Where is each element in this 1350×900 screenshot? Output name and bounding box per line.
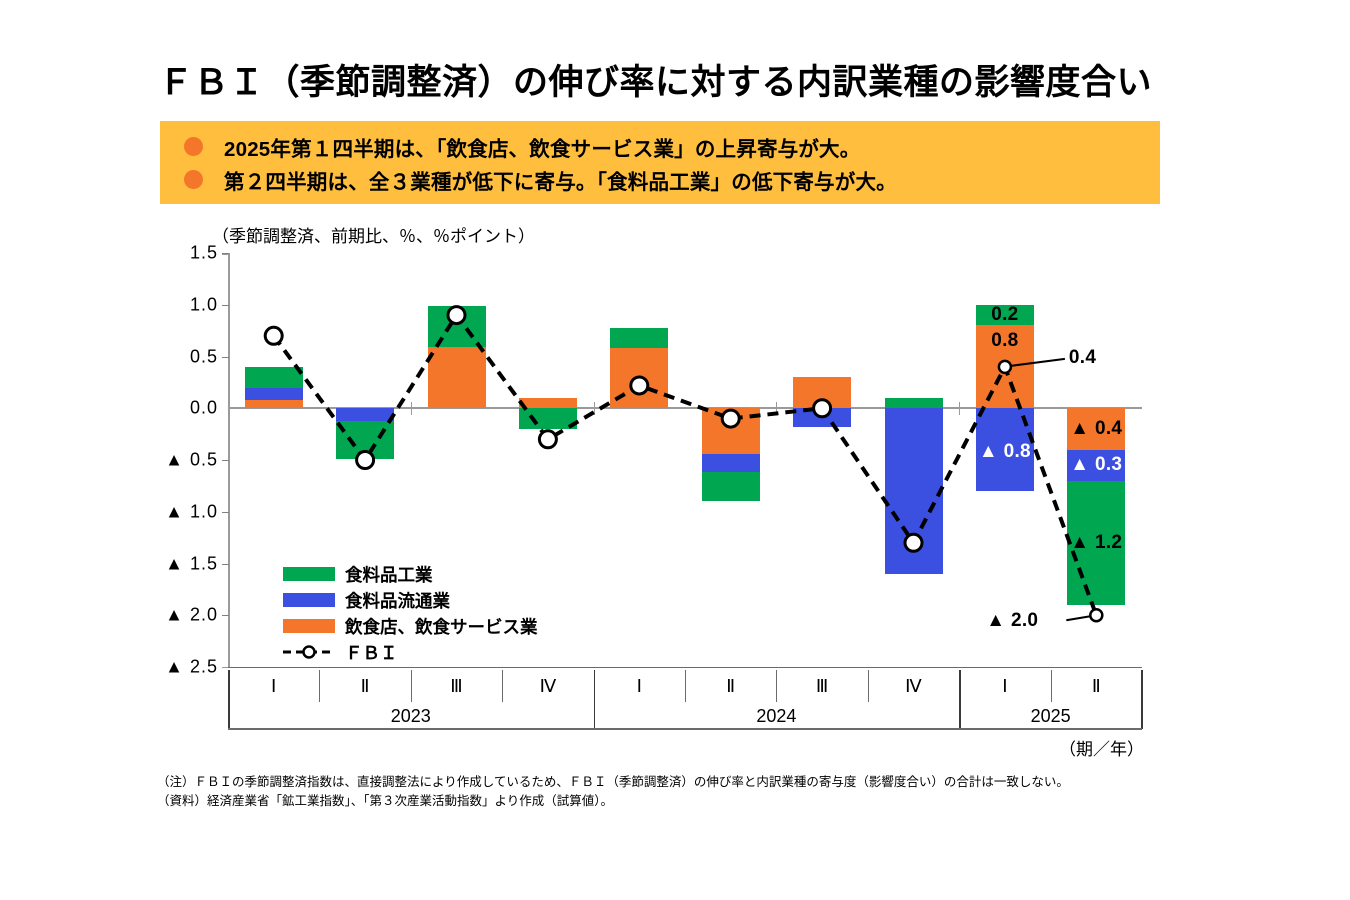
x-axis-quarter-label: Ⅰ <box>228 668 319 704</box>
x-axis-quarter-divider <box>411 670 412 702</box>
y-tick-mark <box>222 305 229 306</box>
bar-value-label: ▲ 0.4 <box>1070 418 1122 440</box>
legend-label: 飲食店、飲食サービス業 <box>345 614 538 639</box>
bar-segment <box>610 348 668 408</box>
axis-unit-note: （季節調整済、前期比、％、％ポイント） <box>212 222 535 247</box>
y-tick-label: ▲ 0.5 <box>138 450 218 471</box>
bar-segment <box>702 472 760 501</box>
legend-label: 食料品工業 <box>345 562 433 587</box>
legend-color-swatch <box>283 619 335 633</box>
x-axis-quarter-label: Ⅰ <box>959 668 1050 704</box>
x-axis: ⅠⅡⅢⅣ2023ⅠⅡⅢⅣ2024ⅠⅡ2025 <box>228 667 1142 729</box>
y-tick-mark <box>222 357 229 358</box>
x-axis-year-divider <box>594 670 596 729</box>
bar-segment <box>610 328 668 349</box>
bar-value-label: 0.2 <box>991 304 1018 326</box>
bar-segment <box>702 408 760 454</box>
legend-item: 食料品流通業 <box>283 588 538 612</box>
bar-segment <box>793 377 851 408</box>
bar-segment <box>793 408 851 427</box>
x-axis-year-label: 2023 <box>228 704 594 729</box>
chart-legend: 食料品工業食料品流通業飲食店、飲食サービス業ＦＢＩ <box>283 562 538 666</box>
y-tick-label: ▲ 2.5 <box>138 657 218 678</box>
y-tick-mark <box>222 460 229 461</box>
y-tick-label: 0.0 <box>138 398 218 419</box>
x-minor-tick <box>411 402 412 415</box>
legend-line-marker-icon <box>283 645 335 659</box>
fbi-marker <box>1090 609 1102 621</box>
x-axis-year-divider <box>959 670 961 729</box>
y-tick-label: ▲ 2.0 <box>138 605 218 626</box>
y-tick-mark <box>222 253 229 254</box>
bar-segment <box>336 408 394 420</box>
x-axis-quarter-label: Ⅱ <box>685 668 776 704</box>
y-tick-mark <box>222 615 229 616</box>
chart-area: （季節調整済、前期比、％、％ポイント） 1.51.00.50.0▲ 0.5▲ 1… <box>0 0 1350 900</box>
y-tick-label: ▲ 1.5 <box>138 553 218 574</box>
legend-item: 食料品工業 <box>283 562 538 586</box>
fbi-marker <box>265 327 282 344</box>
x-minor-tick <box>594 402 595 415</box>
fbi-marker <box>539 431 556 448</box>
slide-canvas: ＦＢＩ（季節調整済）の伸び率に対する内訳業種の影響度合い 2025年第１四半期は… <box>0 0 1350 900</box>
x-axis-quarter-divider <box>319 670 320 702</box>
x-axis-year-label: 2025 <box>959 704 1142 729</box>
x-axis-quarter-divider <box>776 670 777 702</box>
legend-item: ＦＢＩ <box>283 640 538 664</box>
bar-segment <box>245 367 303 388</box>
bar-segment <box>885 398 943 408</box>
y-tick-mark <box>222 564 229 565</box>
bar-segment <box>245 388 303 400</box>
y-tick-label: 1.0 <box>138 294 218 315</box>
legend-color-swatch <box>283 593 335 607</box>
bar-value-label: ▲ 0.8 <box>979 441 1031 463</box>
x-axis-quarter-label: Ⅱ <box>1051 668 1142 704</box>
x-minor-tick <box>776 402 777 415</box>
y-tick-label: 1.5 <box>138 243 218 264</box>
x-axis-bottom-rule <box>228 728 1142 730</box>
x-axis-year-label: 2024 <box>594 704 960 729</box>
bar-segment <box>519 408 577 429</box>
x-axis-quarter-label: Ⅳ <box>868 668 959 704</box>
x-axis-quarter-divider <box>502 670 503 702</box>
x-axis-quarter-label: Ⅰ <box>594 668 685 704</box>
x-axis-caption: （期／年） <box>1059 735 1144 760</box>
x-axis-quarter-divider <box>1051 670 1052 702</box>
bar-segment <box>519 398 577 408</box>
x-minor-tick <box>959 402 960 415</box>
bar-segment <box>336 421 394 459</box>
x-axis-year-divider <box>1141 670 1143 729</box>
footnote-note: （注）ＦＢＩの季節調整済指数は、直接調整法により作成しているため、ＦＢＩ（季節調… <box>157 773 1069 792</box>
x-axis-quarter-label: Ⅳ <box>502 668 593 704</box>
y-tick-label: ▲ 1.0 <box>138 501 218 522</box>
y-tick-mark <box>222 512 229 513</box>
callout-leader-line <box>1066 616 1090 620</box>
x-axis-year-divider <box>228 670 230 729</box>
bar-segment <box>245 400 303 408</box>
legend-label: 食料品流通業 <box>345 588 450 613</box>
footnotes: （注）ＦＢＩの季節調整済指数は、直接調整法により作成しているため、ＦＢＩ（季節調… <box>157 773 1069 812</box>
x-axis-quarter-label: Ⅲ <box>411 668 502 704</box>
legend-item: 飲食店、飲食サービス業 <box>283 614 538 638</box>
x-axis-quarter-label: Ⅱ <box>319 668 410 704</box>
legend-label: ＦＢＩ <box>345 640 398 665</box>
bar-segment <box>428 347 486 408</box>
fbi-value-label: ▲ 2.0 <box>986 610 1038 632</box>
bar-segment <box>885 408 943 574</box>
footnote-source: （資料）経済産業省「鉱工業指数」、「第３次産業活動指数」より作成（試算値）。 <box>157 792 1069 811</box>
x-axis-quarter-label: Ⅲ <box>776 668 867 704</box>
y-tick-label: 0.5 <box>138 346 218 367</box>
bar-value-label: ▲ 1.2 <box>1070 532 1122 554</box>
legend-color-swatch <box>283 567 335 581</box>
fbi-value-label: 0.4 <box>1069 347 1096 369</box>
bar-value-label: 0.8 <box>991 330 1018 352</box>
bar-segment <box>428 306 486 347</box>
x-axis-quarter-divider <box>685 670 686 702</box>
x-axis-quarter-divider <box>868 670 869 702</box>
bar-value-label: ▲ 0.3 <box>1070 454 1122 476</box>
bar-segment <box>702 454 760 473</box>
